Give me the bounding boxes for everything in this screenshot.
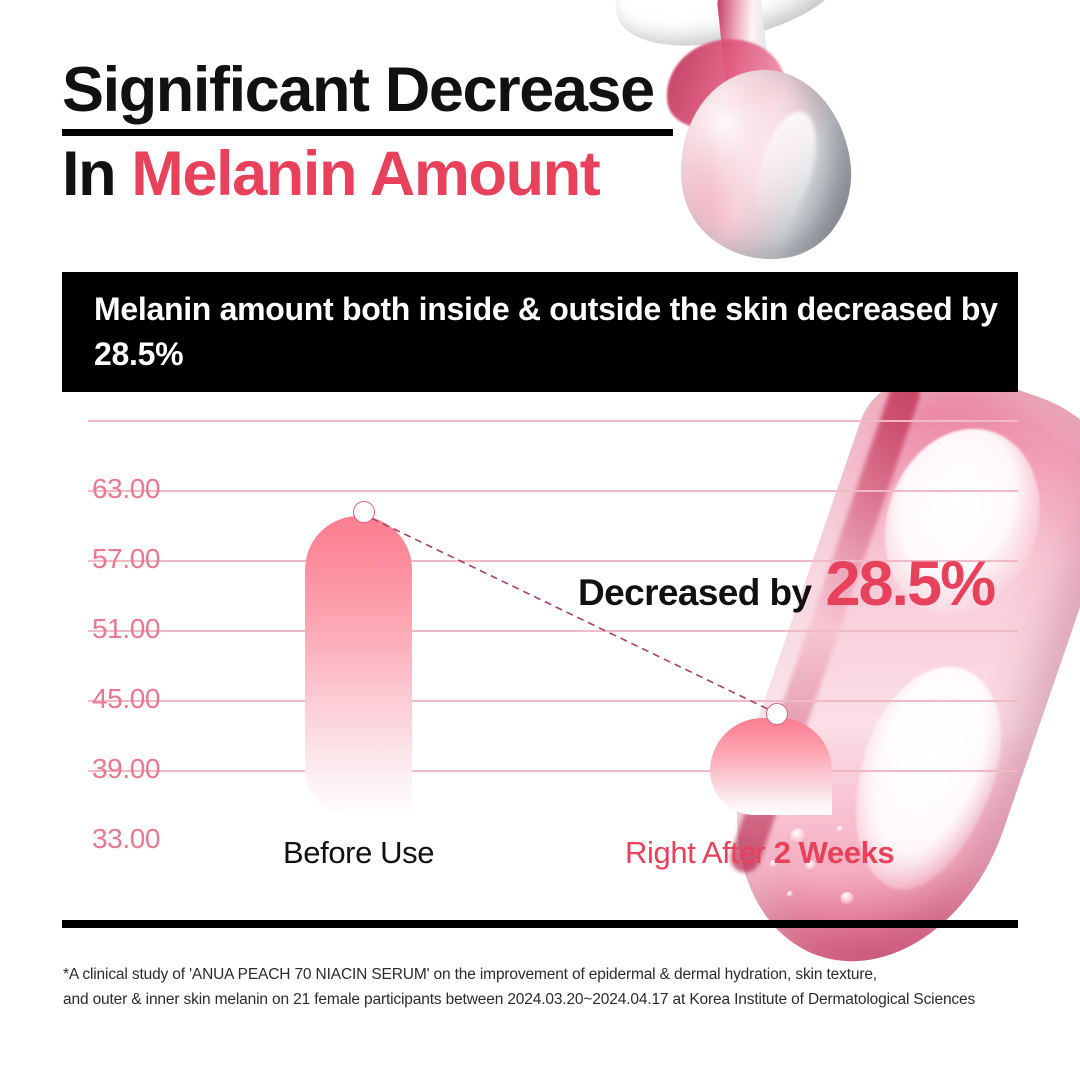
headline-block: Significant Decrease In Melanin Amount [62, 58, 762, 207]
headline-accent: Melanin Amount [131, 139, 599, 209]
headline-line-2: In Melanin Amount [62, 142, 762, 208]
dropper-cap [599, 0, 852, 59]
decrease-callout-value: 28.5% [825, 548, 994, 620]
headline-prefix: In [62, 139, 131, 209]
category-label-right-after: Right After 2 Weeks [625, 835, 894, 871]
trend-connector-line [0, 420, 1080, 840]
footnote-line-2: and outer & inner skin melanin on 21 fem… [63, 987, 1053, 1012]
headline-line-1: Significant Decrease [62, 58, 762, 124]
category-label-after-text: Right After [625, 835, 774, 870]
decrease-callout: Decreased by 28.5% [578, 548, 994, 620]
category-label-after-emphasis: 2 Weeks [774, 835, 895, 870]
summary-banner-text: Melanin amount both inside & outside the… [62, 287, 1018, 378]
footer-divider [62, 920, 1018, 928]
footnote-block: *A clinical study of 'ANUA PEACH 70 NIAC… [63, 962, 1053, 1012]
category-label-before-use: Before Use [283, 835, 434, 871]
melanin-bar-chart: 63.0057.0051.0045.0039.0033.00 Before Us… [0, 420, 1080, 920]
headline-underline [62, 129, 673, 136]
summary-banner: Melanin amount both inside & outside the… [62, 272, 1018, 392]
data-point-marker-before [353, 501, 375, 523]
footnote-line-1: *A clinical study of 'ANUA PEACH 70 NIAC… [63, 962, 1053, 987]
decrease-callout-label: Decreased by [578, 572, 811, 614]
